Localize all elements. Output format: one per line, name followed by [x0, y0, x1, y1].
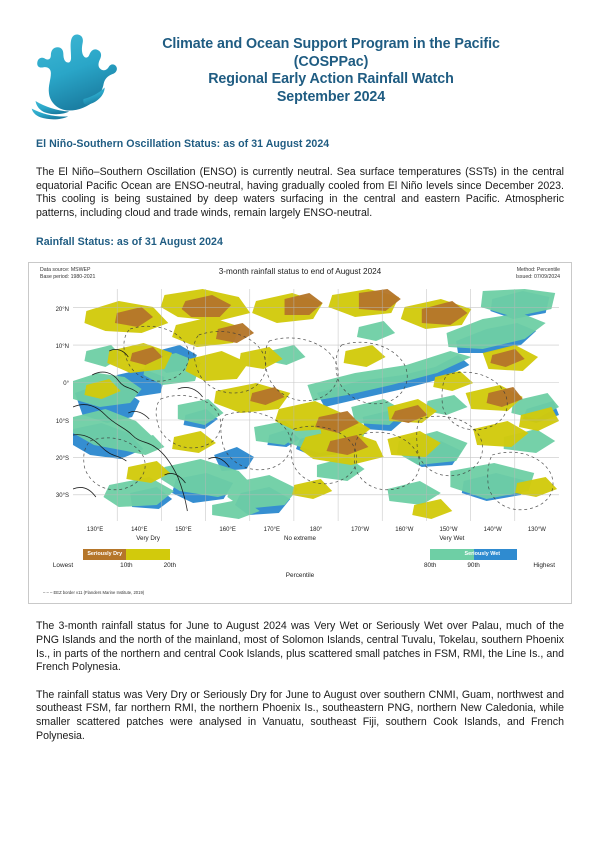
- colorbar-strip: Seriously Dry Seriously Wet: [83, 549, 517, 560]
- colorbar-tick-20th: 20th: [164, 562, 176, 569]
- y-tick-0: 0°: [39, 381, 69, 387]
- legend-label-very-dry: Very Dry: [136, 535, 160, 542]
- title-line-4: September 2024: [120, 89, 542, 107]
- colorbar-tick-10th: 10th: [120, 562, 132, 569]
- figure-footnote: – – – EEZ border v11 (Flanders Marine In…: [29, 589, 571, 603]
- rainfall-percentile-map: [73, 289, 559, 521]
- cosppac-coral-logo: [24, 28, 120, 124]
- figure-title: 3-month rainfall status to end of August…: [29, 267, 571, 276]
- colorbar-tick-lowest: Lowest: [53, 562, 73, 569]
- map-raster: [73, 289, 559, 521]
- page-title: Climate and Ocean Support Program in the…: [120, 26, 576, 106]
- percentile-colorbar-legend: Very Dry No extreme Very Wet Seriously D…: [39, 533, 561, 589]
- figure-topbar: Data source: MSWEP Base period: 1980-202…: [29, 263, 571, 289]
- colorbar-segment-no-extreme: [170, 549, 430, 560]
- map-plot-area: 20°N 10°N 0° 10°S 20°S 30°S: [39, 289, 561, 521]
- title-line-3: Regional Early Action Rainfall Watch: [120, 71, 542, 89]
- y-tick-10S: 10°S: [39, 419, 69, 425]
- y-tick-20S: 20°S: [39, 456, 69, 462]
- colorbar-axis-title: Percentile: [39, 572, 561, 579]
- legend-label-no-extreme: No extreme: [284, 535, 316, 542]
- colorbar-tick-highest: Highest: [533, 562, 555, 569]
- figure-method: Method: Percentile Issued: 07/09/2024: [516, 267, 560, 281]
- legend-label-seriously-dry: Seriously Dry: [83, 550, 126, 559]
- legend-label-very-wet: Very Wet: [439, 535, 464, 542]
- enso-status-heading: El Niño-Southern Oscillation Status: as …: [36, 138, 600, 150]
- title-line-2: (COSPPac): [120, 54, 542, 72]
- rainfall-status-heading: Rainfall Status: as of 31 August 2024: [36, 236, 600, 248]
- y-tick-10N: 10°N: [39, 344, 69, 350]
- page-header: Climate and Ocean Support Program in the…: [0, 0, 600, 124]
- colorbar-tick-80th: 80th: [424, 562, 436, 569]
- rainfall-status-figure: Data source: MSWEP Base period: 1980-202…: [28, 262, 572, 604]
- rainfall-dry-paragraph: The rainfall status was Very Dry or Seri…: [36, 689, 564, 743]
- title-line-1: Climate and Ocean Support Program in the…: [120, 36, 542, 54]
- y-tick-20N: 20°N: [39, 307, 69, 313]
- y-tick-30S: 30°S: [39, 493, 69, 499]
- colorbar-tick-90th: 90th: [467, 562, 479, 569]
- eez-footnote-text: – – – EEZ border v11 (Flanders Marine In…: [43, 590, 144, 595]
- rainfall-watch-page: Climate and Ocean Support Program in the…: [0, 0, 600, 848]
- rainfall-wet-paragraph: The 3-month rainfall status for June to …: [36, 620, 564, 674]
- colorbar-segment-very-dry: [126, 549, 169, 560]
- legend-label-seriously-wet: Seriously Wet: [448, 550, 517, 559]
- enso-status-paragraph: The El Niño–Southern Oscillation (ENSO) …: [36, 166, 564, 220]
